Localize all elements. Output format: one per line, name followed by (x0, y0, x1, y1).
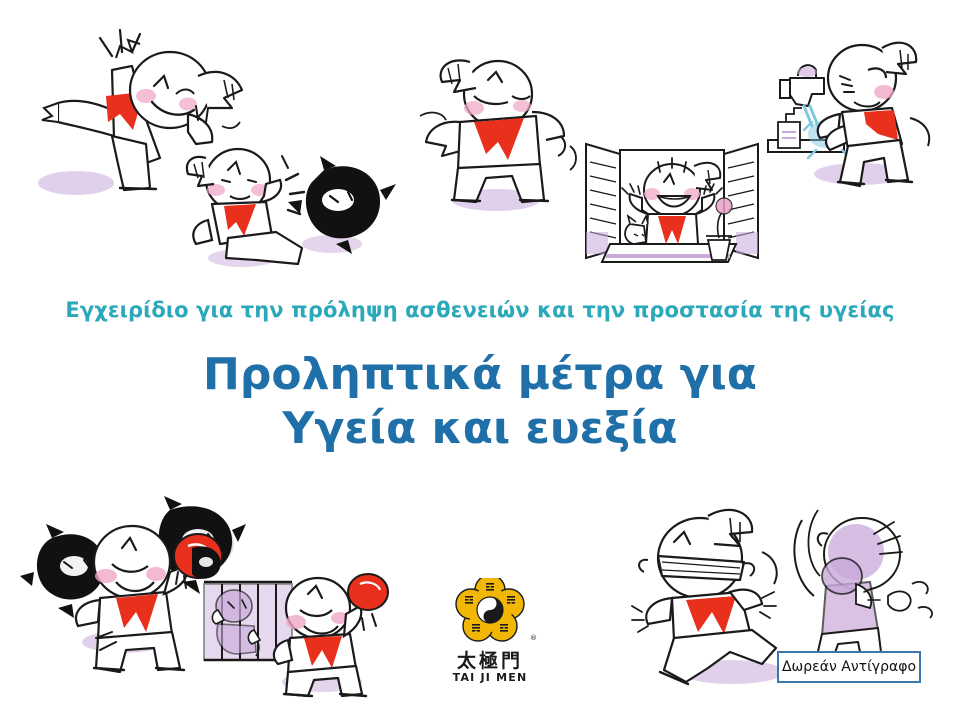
page-title-line-2: Υγεία και ευεξία (0, 402, 960, 456)
taiji-blossom-icon: ® (440, 578, 540, 646)
logo-chinese-name: 太極門 (440, 651, 540, 671)
illustration-hand-washing-figure (760, 22, 950, 202)
header-subtitle: Εγχειρίδιο για την πρόληψη ασθενειών και… (0, 298, 960, 322)
page-title-line-1: Προληπτικά μέτρα για (0, 348, 960, 402)
illustration-open-window-figure (572, 132, 772, 282)
free-copy-stamp: Δωρεάν Αντίγραφο (777, 651, 921, 683)
slide-canvas: Εγχειρίδιο για την πρόληψη ασθενειών και… (0, 0, 960, 720)
illustration-caged-virus-figure (192, 548, 392, 698)
tai-ji-men-logo: ® 太極門 TAI JI MEN (440, 578, 540, 682)
page-title: Προληπτικά μέτρα για Υγεία και ευεξία (0, 348, 960, 456)
illustration-qigong-stance-figure (412, 50, 587, 230)
logo-english-name: TAI JI MEN (440, 671, 540, 684)
illustration-kick-virus-figure (172, 140, 402, 270)
registered-mark: ® (530, 634, 537, 642)
